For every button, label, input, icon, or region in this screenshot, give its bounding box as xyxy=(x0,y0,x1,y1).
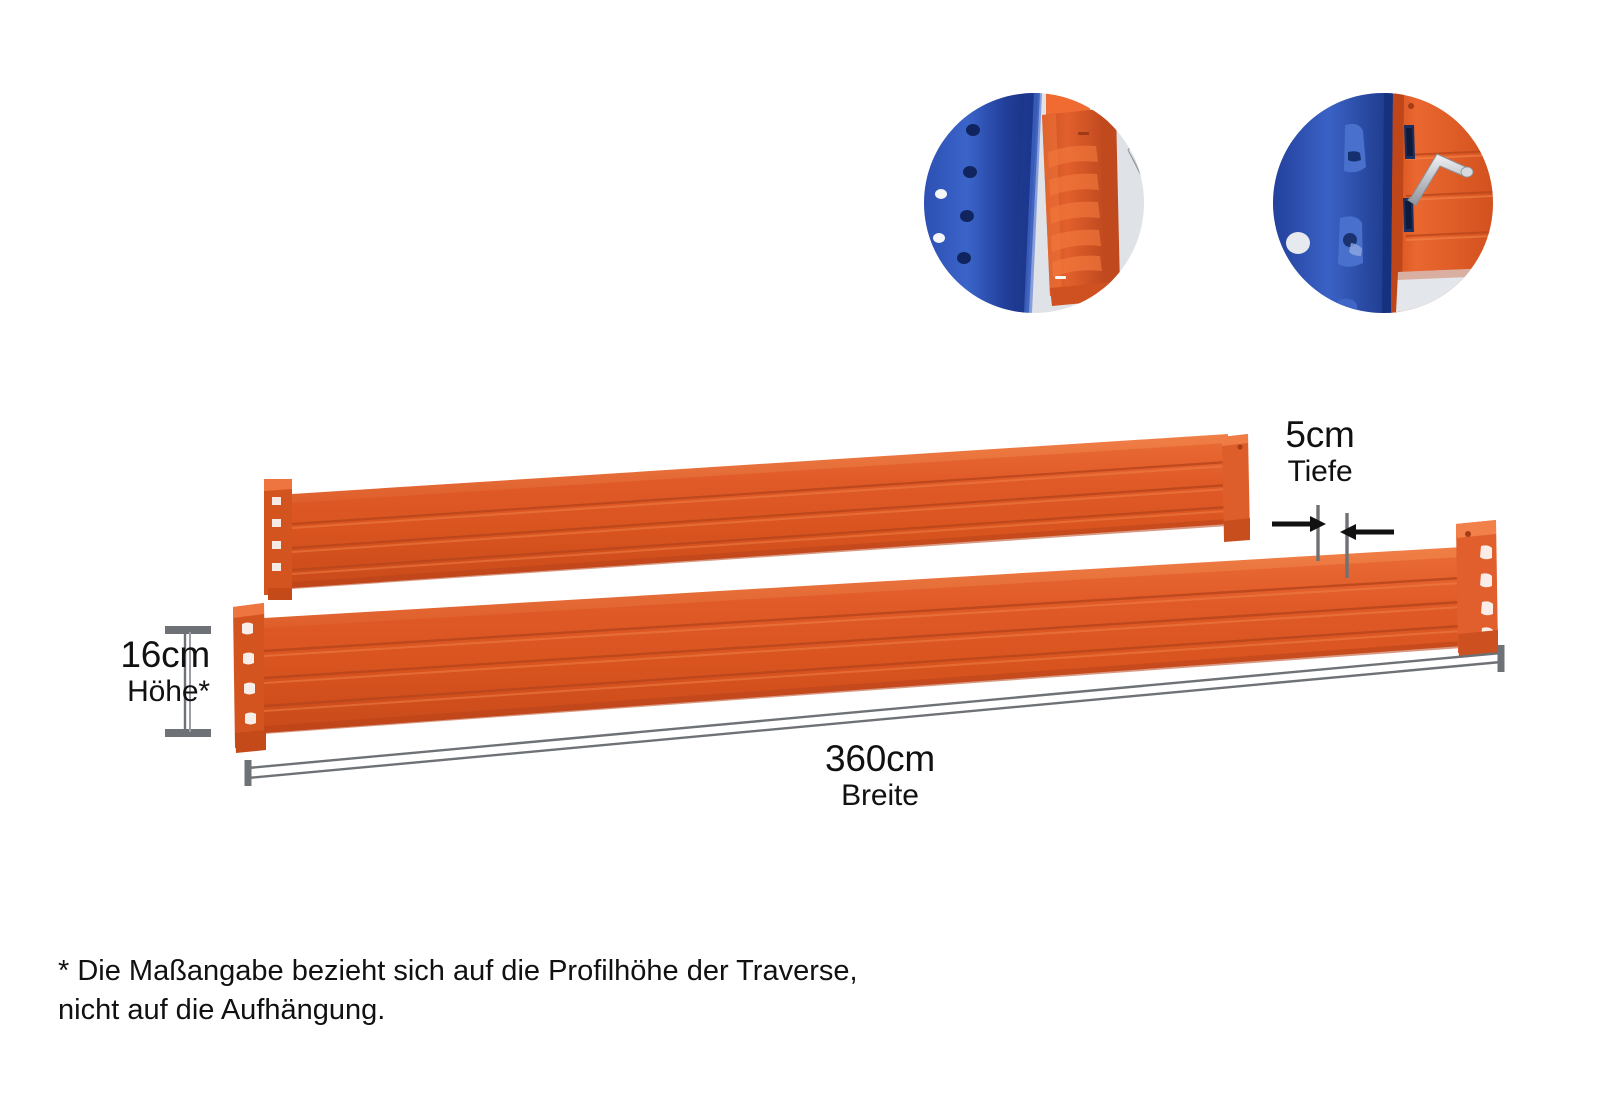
orange-beam-profile xyxy=(1391,93,1493,313)
detail-circle-hook-bracket xyxy=(924,60,1176,313)
diagram-canvas xyxy=(0,0,1600,1100)
depth-caption: Tiefe xyxy=(1220,455,1420,489)
height-caption: Höhe* xyxy=(40,675,210,709)
depth-value: 5cm xyxy=(1220,414,1420,455)
height-value: 16cm xyxy=(40,634,210,675)
blue-upright-slotted xyxy=(1273,93,1398,321)
blue-upright-perforated xyxy=(924,93,1042,313)
orange-hook-bracket xyxy=(1042,60,1120,306)
width-caption: Breite xyxy=(735,779,1025,813)
front-beam-right-connector xyxy=(1456,520,1498,658)
footnote-text: * Die Maßangabe bezieht sich auf die Pro… xyxy=(58,952,1108,1029)
detail-circle-beam-connection xyxy=(1273,93,1493,321)
height-dimension-label: 16cm Höhe* xyxy=(40,634,210,709)
rear-beam-left-connector xyxy=(264,479,292,600)
product-diagram: 16cm Höhe* 5cm Tiefe 360cm Breite * Die … xyxy=(0,0,1600,1100)
front-beam-left-connector xyxy=(233,603,266,753)
width-dimension-label: 360cm Breite xyxy=(735,738,1025,813)
width-value: 360cm xyxy=(735,738,1025,779)
depth-dimension-label: 5cm Tiefe xyxy=(1220,414,1420,489)
